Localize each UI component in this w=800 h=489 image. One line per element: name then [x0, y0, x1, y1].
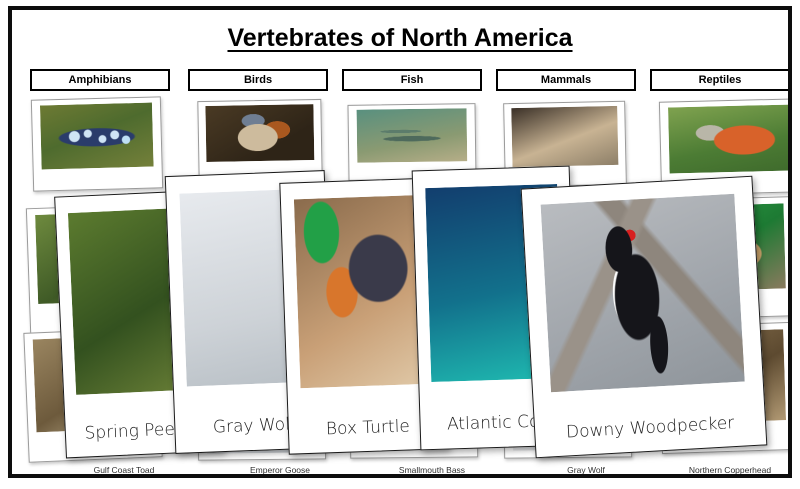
poster-inner: Vertebrates of North America AmphibiansB… [12, 10, 788, 474]
specimen-caption: Gulf Coast Toad [54, 465, 194, 474]
category-header-label: Reptiles [699, 74, 742, 86]
card-photo [40, 102, 154, 170]
specimen-caption: Northern Copperhead [660, 465, 788, 474]
category-header-label: Birds [244, 74, 272, 86]
category-header-label: Amphibians [69, 74, 132, 86]
background-card-blue-spotted-salamander[interactable] [31, 96, 163, 191]
category-header-fish[interactable]: Fish [342, 69, 482, 91]
card-photo [294, 195, 433, 389]
page-title: Vertebrates of North America [12, 24, 788, 53]
category-header-reptiles[interactable]: Reptiles [650, 69, 788, 91]
specimen-caption: Gray Wolf [516, 465, 656, 474]
background-card-american-kestrel[interactable] [197, 99, 322, 181]
card-photo [541, 194, 744, 392]
category-header-label: Fish [401, 74, 424, 86]
card-label: Downy Woodpecker [535, 411, 766, 444]
specimen-caption: Smallmouth Bass [362, 465, 502, 474]
card-photo [668, 104, 788, 173]
specimen-caption: Emperor Goose [210, 465, 350, 474]
card-photo [511, 106, 618, 167]
card-photo [356, 108, 468, 163]
category-header-birds[interactable]: Birds [188, 69, 328, 91]
vertebrates-poster-page: Vertebrates of North America AmphibiansB… [0, 0, 800, 489]
category-header-label: Mammals [541, 74, 591, 86]
poster-frame: Vertebrates of North America AmphibiansB… [8, 6, 792, 478]
category-header-amphibians[interactable]: Amphibians [30, 69, 170, 91]
category-header-mammals[interactable]: Mammals [496, 69, 636, 91]
downy-woodpecker-card[interactable]: Downy Woodpecker [521, 176, 768, 459]
card-photo [206, 104, 314, 162]
